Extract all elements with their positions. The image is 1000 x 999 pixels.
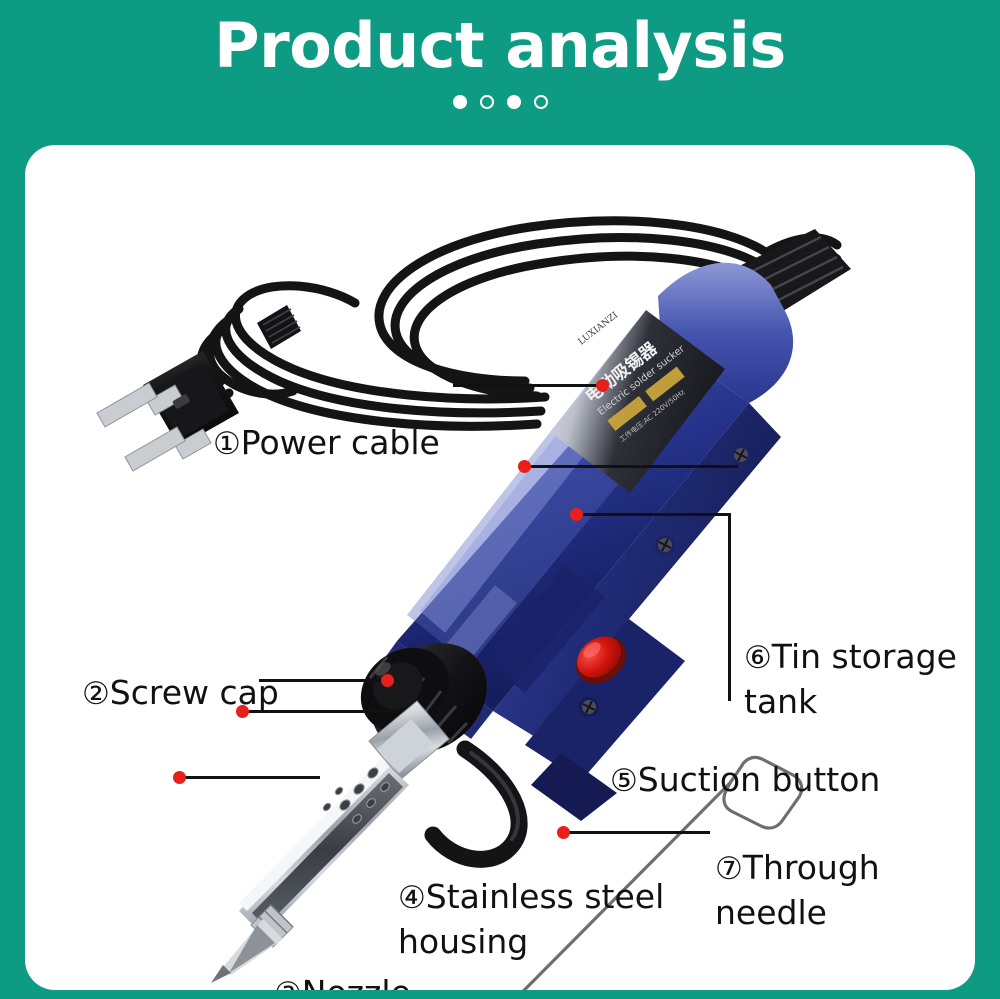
- content-card: 电动吸锡器 Electric solder sucker 工作电压:AC 220…: [25, 145, 975, 990]
- leader-line-tin-storage-tank: [525, 465, 738, 468]
- pagination-dot-2[interactable]: [480, 95, 494, 109]
- marker-dot-nozzle: [173, 771, 186, 784]
- leader-line-nozzle: [180, 776, 320, 779]
- callout-label-power-cable: ①Power cable: [213, 378, 440, 466]
- leader-line-screw-cap: [259, 679, 387, 682]
- callout-text-2: Screw cap: [110, 673, 279, 712]
- marker-dot-power-cable: [596, 379, 609, 392]
- leader-line-power-cable: [453, 384, 602, 387]
- callout-number-4: ④: [398, 880, 426, 916]
- callout-number-2: ②: [82, 676, 110, 712]
- marker-dot-suction-button: [570, 508, 583, 521]
- callout-text-5: Suction button: [638, 760, 881, 799]
- nozzle-tip: [211, 919, 283, 983]
- leader-line-stainless-steel-housing: [243, 710, 401, 713]
- header-banner: Product analysis: [0, 0, 1000, 145]
- leader-line-suction-button-horizontal: [576, 513, 731, 516]
- callout-text-1: Power cable: [241, 423, 440, 462]
- marker-dot-screw-cap: [381, 674, 394, 687]
- callout-label-nozzle: ③Nozzle: [274, 928, 411, 990]
- marker-dot-stainless-steel-housing: [236, 705, 249, 718]
- product-analysis-infographic: Product analysis: [0, 0, 1000, 999]
- pagination-dot-1[interactable]: [453, 95, 467, 109]
- callout-text-3: Nozzle: [302, 973, 411, 990]
- pagination-dot-4[interactable]: [534, 95, 548, 109]
- callout-label-suction-button: ⑤Suction button: [610, 715, 880, 803]
- callout-label-screw-cap: ②Screw cap: [82, 628, 279, 716]
- callout-number-7: ⑦: [715, 851, 743, 887]
- callout-number-1: ①: [213, 426, 241, 462]
- callout-label-stainless-steel-housing: ④Stainless steel housing: [398, 832, 664, 963]
- marker-dot-tin-storage-tank: [518, 460, 531, 473]
- pagination-dots: [0, 95, 1000, 109]
- svg-text:LUXIANZI: LUXIANZI: [577, 310, 621, 347]
- leader-line-suction-button-vertical: [728, 513, 731, 701]
- callout-number-5: ⑤: [610, 763, 638, 799]
- callout-label-through-needle: ⑦Through needle: [715, 803, 880, 934]
- callout-number-6: ⑥: [744, 640, 772, 676]
- callout-label-tin-storage-tank: ⑥Tin storage tank: [744, 592, 957, 723]
- marker-dot-through-needle: [557, 826, 570, 839]
- page-title: Product analysis: [0, 8, 1000, 84]
- cable-tie: [257, 305, 301, 349]
- callout-number-3: ③: [274, 976, 302, 990]
- leader-line-through-needle: [563, 831, 710, 834]
- callout-text-6: Tin storage tank: [744, 637, 957, 721]
- callout-text-4: Stainless steel housing: [398, 877, 664, 961]
- pagination-dot-3[interactable]: [507, 95, 521, 109]
